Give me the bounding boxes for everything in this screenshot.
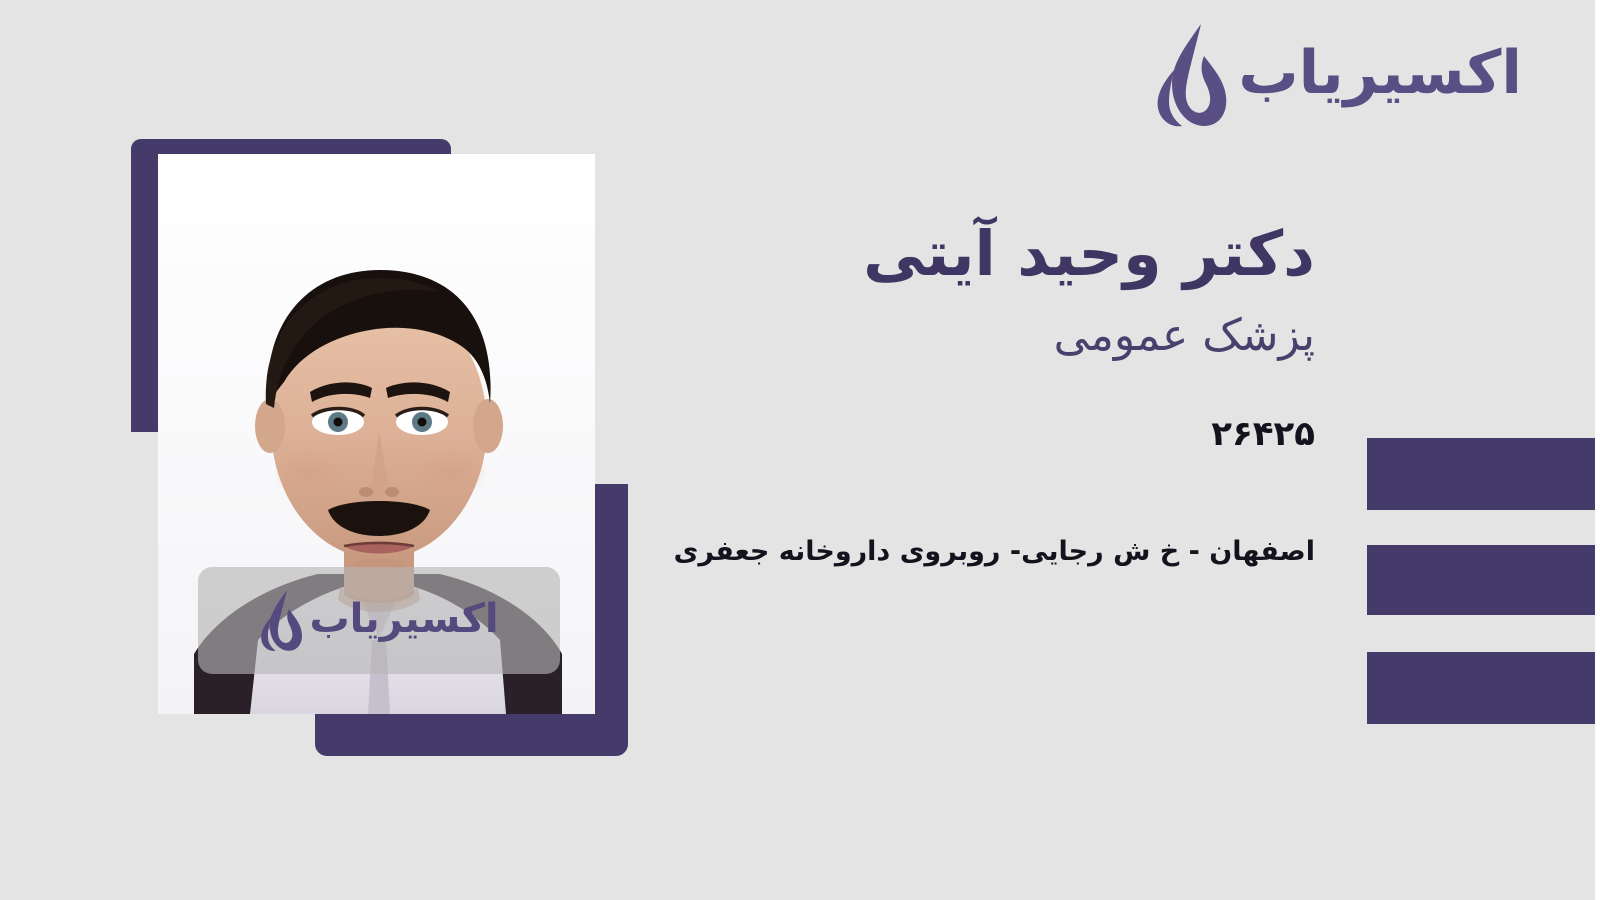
photo-watermark: اکسیریاب [198,567,560,674]
decorative-bar-3 [1367,652,1595,724]
watermark-flame-droplet-icon [259,588,303,654]
portrait-composition: اکسیریاب [131,139,631,759]
decorative-bar-1 [1367,438,1595,510]
brand-name-text: اکسیریاب [1238,43,1522,109]
right-edge-strip [1595,0,1600,900]
decorative-bar-2 [1367,545,1595,615]
brand-logo[interactable]: اکسیریاب [1154,22,1522,130]
doctor-address: اصفهان - خ ش رجایی- روبروی داروخانه جعفر… [555,533,1315,571]
doctor-info-block: دکتر وحید آیتی پزشک عمومی ۲۶۴۲۵ اصفهان -… [555,215,1315,571]
doctor-profile-card: اکسیریاب [0,0,1600,900]
doctor-code: ۲۶۴۲۵ [555,414,1315,455]
doctor-name: دکتر وحید آیتی [555,215,1315,293]
doctor-specialty: پزشک عمومی [555,305,1315,367]
watermark-text: اکسیریاب [309,599,498,643]
doctor-portrait-photo: اکسیریاب [158,154,595,714]
flame-droplet-icon [1154,22,1228,130]
